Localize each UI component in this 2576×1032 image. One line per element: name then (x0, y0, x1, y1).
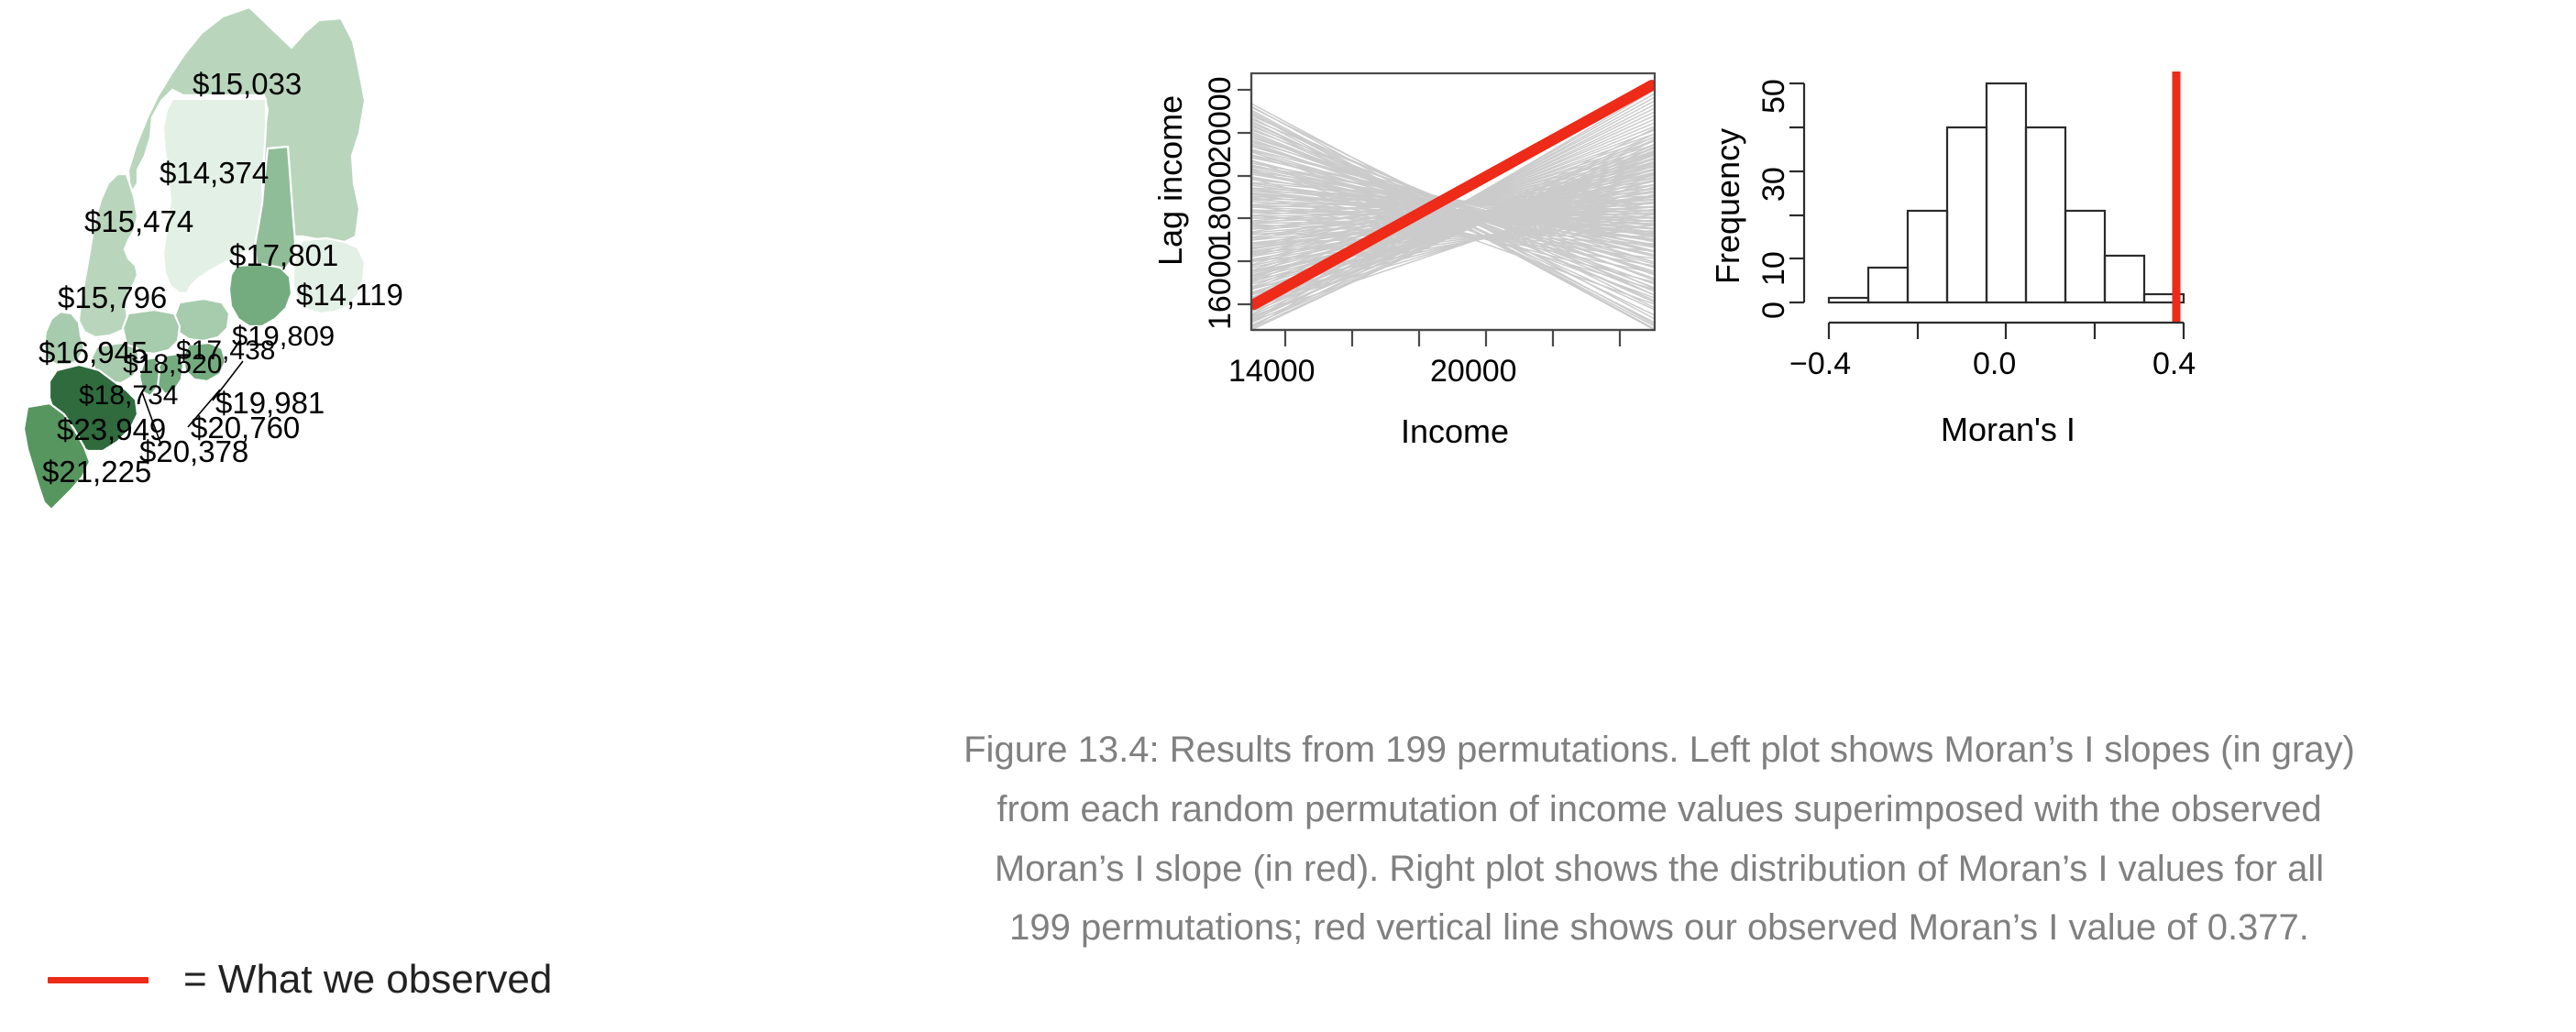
map-value-label: $20,378 (139, 434, 248, 469)
histogram-bars (1829, 83, 2184, 302)
hist-bar (1829, 298, 1868, 302)
hist-bar (1987, 83, 2026, 302)
map-value-label: $18,734 (79, 380, 178, 412)
caption-line: 199 permutations; red vertical line show… (761, 898, 2558, 958)
scatter-y-ticks (1238, 73, 1251, 330)
scatter-x-ticks (1251, 330, 1655, 346)
map-value-label: $15,474 (84, 204, 193, 239)
morans-i-histogram-plot: 0 10 30 50 Frequency −0.4 0.0 0.4 Moran'… (1723, 55, 2292, 697)
figure-root: $15,033 $14,374 $15,474 $17,801 $14,119 … (0, 0, 2576, 1032)
scatter-ytick-20000: 20000 (1203, 76, 1238, 163)
caption-line: Figure 13.4: Results from 199 permutatio… (761, 720, 2558, 780)
hist-x-axis-title: Moran's I (1941, 411, 2075, 449)
scatter-xtick-14000: 14000 (1228, 354, 1316, 390)
hist-ytick-30: 30 (1756, 167, 1792, 202)
map-value-label: $17,801 (229, 238, 338, 273)
hist-y-axis-title: Frequency (1709, 128, 1747, 284)
scatter-y-axis-title: Lag income (1151, 95, 1190, 266)
hist-bar (1868, 268, 1908, 302)
choropleth-map-panel: $15,033 $14,374 $15,474 $17,801 $14,119 … (0, 0, 715, 1032)
scatter-xtick-20000: 20000 (1430, 354, 1517, 390)
hist-ytick-50: 50 (1756, 79, 1792, 114)
hist-ytick-0: 0 (1756, 302, 1792, 319)
figure-caption: Figure 13.4: Results from 199 permutatio… (761, 720, 2558, 958)
map-value-label: $18,520 (123, 349, 222, 380)
map-value-label: $15,033 (193, 67, 302, 102)
permutation-slopes (1251, 90, 1655, 330)
hist-bar (1947, 127, 1987, 302)
scatter-ytick-16000: 16000 (1203, 243, 1238, 330)
legend-label: = What we observed (183, 957, 552, 1003)
map-value-label: $21,225 (42, 455, 151, 489)
hist-xtick-neg04: −0.4 (1789, 346, 1851, 382)
hist-xtick-00: 0.0 (1973, 346, 2016, 382)
histogram-x-axis (1829, 323, 2184, 339)
hist-bar (2065, 211, 2105, 302)
map-value-label: $15,796 (58, 280, 167, 315)
hist-xtick-04: 0.4 (2152, 346, 2196, 382)
hist-bar (2105, 256, 2144, 302)
caption-line: from each random permutation of income v… (761, 780, 2558, 840)
county-hancock (229, 264, 292, 326)
observed-line-swatch (48, 977, 149, 983)
scatter-x-axis-title: Income (1401, 412, 1509, 451)
hist-bar (1908, 211, 1947, 302)
hist-bar (2026, 127, 2065, 302)
hist-ytick-10: 10 (1756, 251, 1792, 286)
scatter-ytick-18000: 18000 (1203, 160, 1238, 247)
map-legend: = What we observed (48, 957, 552, 1003)
moran-scatter-plot: 16000 18000 20000 Lag income 14000 20000… (1082, 55, 1668, 697)
map-value-label: $14,374 (160, 156, 269, 191)
caption-line: Moran’s I slope (in red). Right plot sho… (761, 840, 2558, 899)
map-value-label: $14,119 (296, 278, 403, 313)
